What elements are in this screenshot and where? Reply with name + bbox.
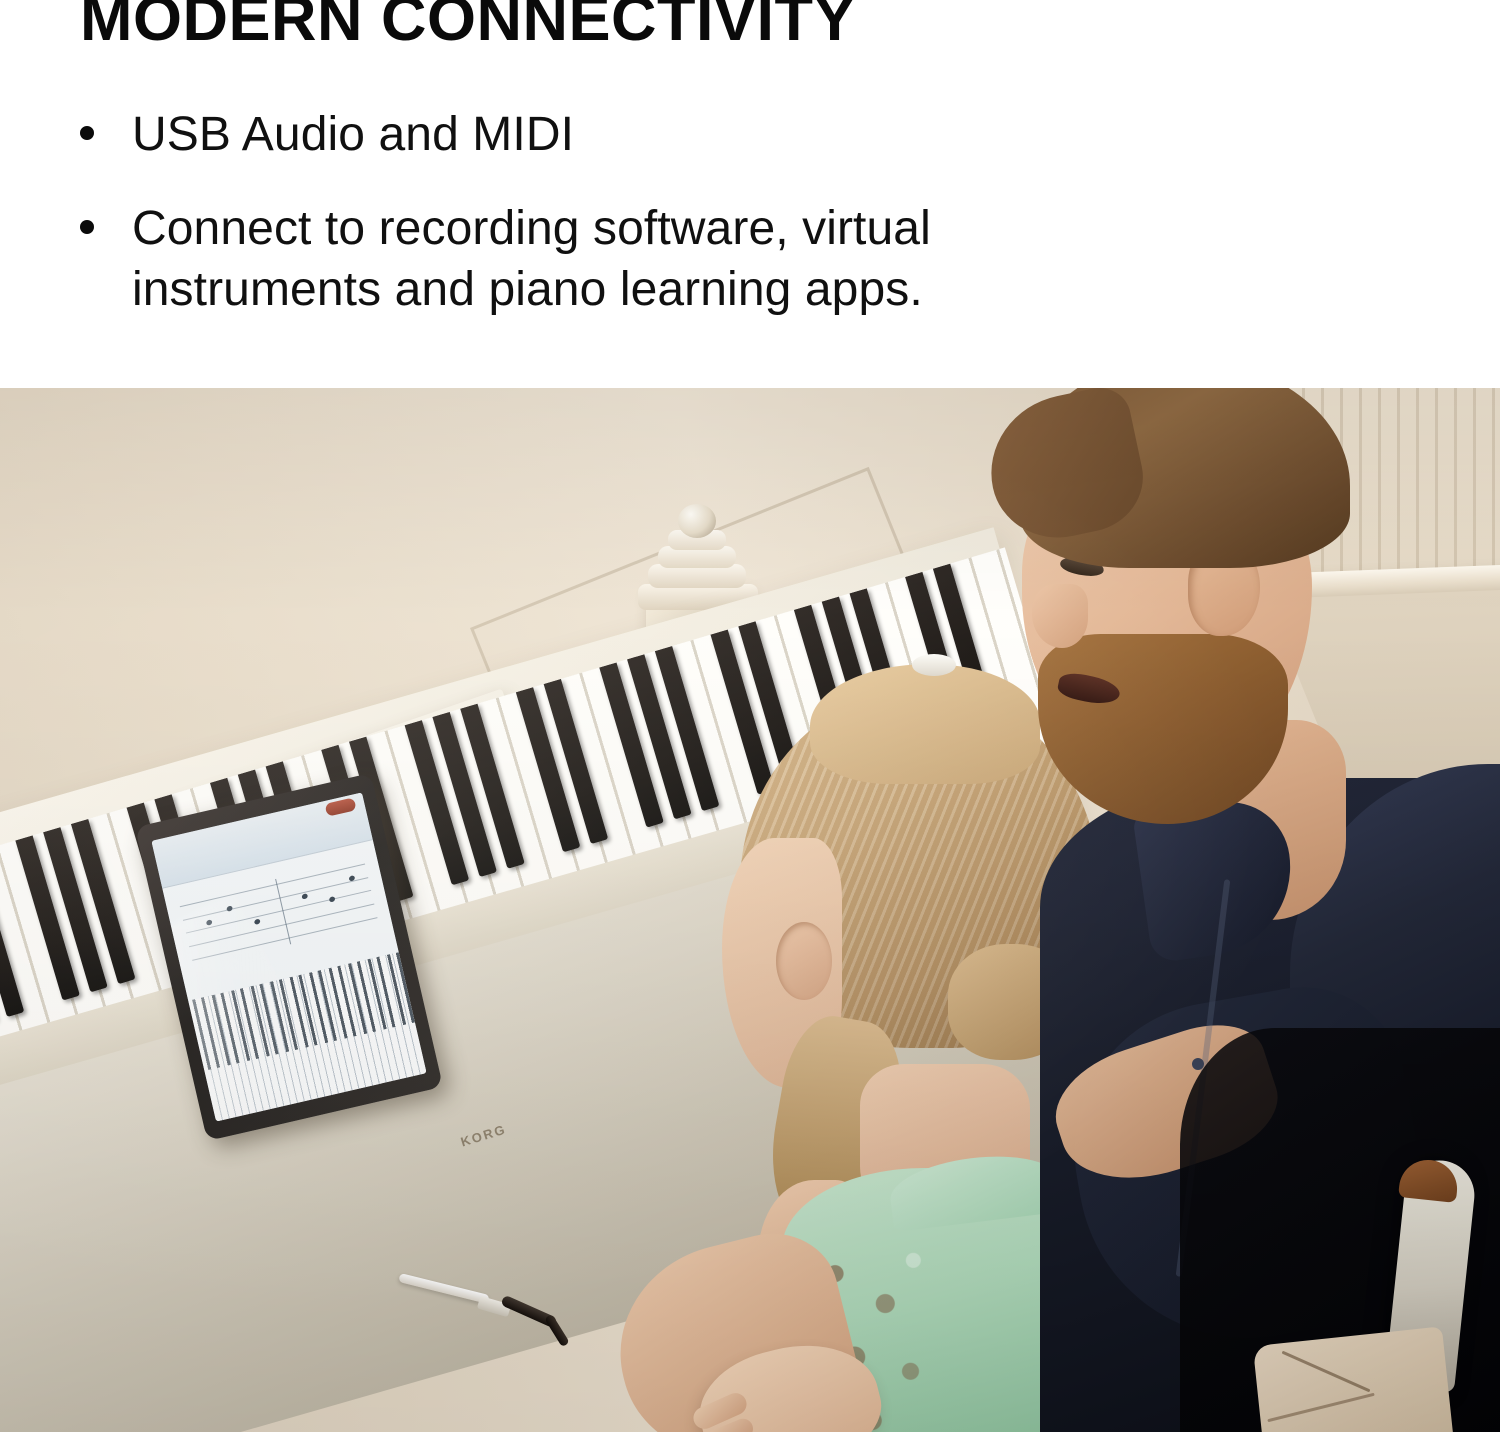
child-ear <box>776 922 832 1000</box>
adult-nose <box>1032 584 1088 648</box>
lifestyle-photo: KORG <box>0 388 1500 1432</box>
tablet-screen <box>151 792 426 1121</box>
feature-text-block: MODERN CONNECTIVITY USB Audio and MIDI C… <box>0 0 1500 388</box>
product-feature-page: MODERN CONNECTIVITY USB Audio and MIDI C… <box>0 0 1500 1432</box>
feature-bullet-list: USB Audio and MIDI Connect to recording … <box>80 105 1180 320</box>
bullet-text: USB Audio and MIDI <box>132 105 574 165</box>
page-title: MODERN CONNECTIVITY <box>80 0 856 52</box>
bullet-text: Connect to recording software, virtual i… <box>132 199 1092 320</box>
list-item: USB Audio and MIDI <box>80 105 1180 165</box>
bullet-dot-icon <box>80 220 94 234</box>
list-item: Connect to recording software, virtual i… <box>80 199 1180 320</box>
bullet-dot-icon <box>80 126 94 140</box>
newel-finial <box>678 504 716 538</box>
hair-tie <box>912 654 956 676</box>
record-button-icon <box>325 797 357 816</box>
